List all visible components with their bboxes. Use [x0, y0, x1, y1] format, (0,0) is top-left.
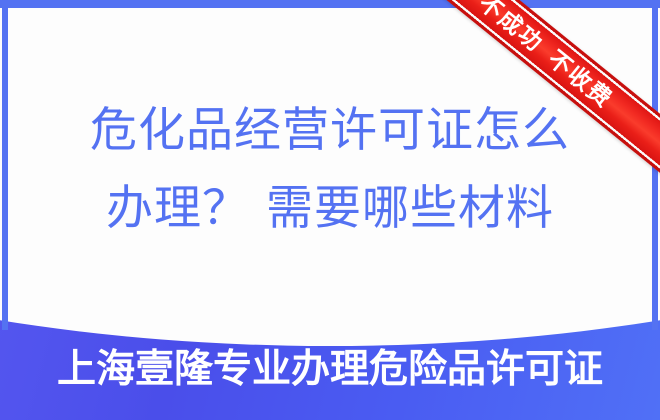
frame-border-right	[652, 0, 658, 330]
poster-root: 危化品经营许可证怎么 办理？ 需要哪些材料 不成功不收费 上海壹隆专业办理危险品…	[0, 0, 660, 420]
bottom-banner-text: 上海壹隆专业办理危险品许可证	[0, 344, 660, 396]
frame-border-left	[2, 0, 8, 330]
page-title: 危化品经营许可证怎么 办理？ 需要哪些材料	[10, 92, 650, 248]
frame-border-top	[0, 0, 660, 8]
page-title-line-2: 办理？ 需要哪些材料	[10, 170, 650, 248]
page-title-line-1: 危化品经营许可证怎么	[10, 92, 650, 170]
